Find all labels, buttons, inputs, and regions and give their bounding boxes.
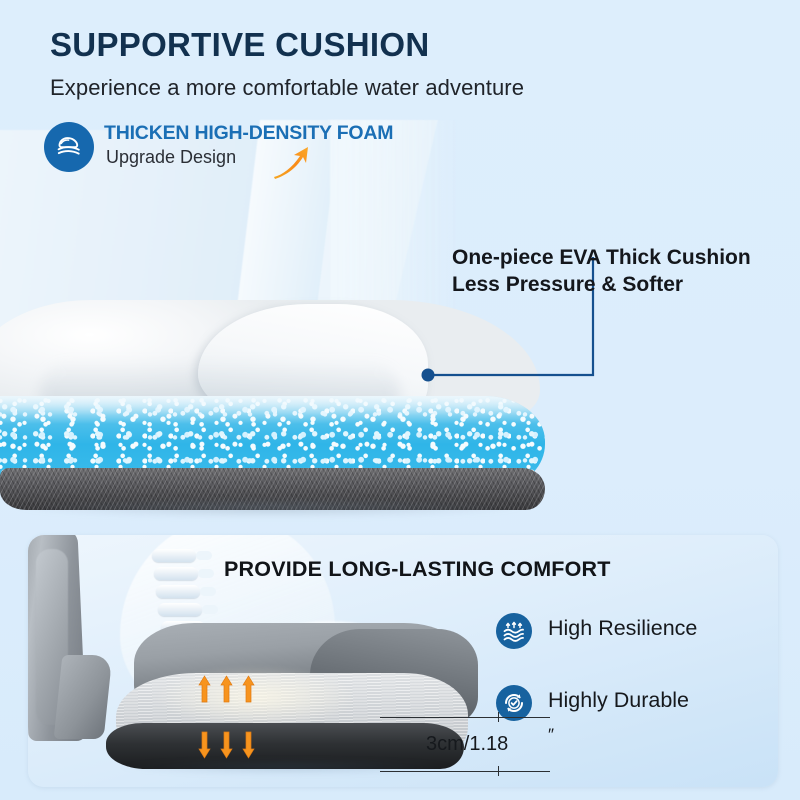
infographic-canvas: SUPPORTIVE CUSHION Experience a more com… — [0, 0, 800, 800]
page-title: SUPPORTIVE CUSHION — [50, 26, 429, 64]
thickness-up-arrow-3 — [242, 675, 255, 703]
dimension-line-top — [380, 717, 550, 718]
thickness-dimension: 3cm/1.18 ″ — [380, 717, 560, 779]
callout-text-block: One-piece EVA Thick Cushion Less Pressur… — [452, 244, 751, 299]
header-block: SUPPORTIVE CUSHION Experience a more com… — [0, 0, 800, 190]
badge-headline: THICKEN HIGH-DENSITY FOAM — [104, 122, 393, 145]
dimension-tick-top — [498, 712, 499, 722]
cushion-foam-icon — [44, 122, 94, 172]
upgrade-badge: THICKEN HIGH-DENSITY FOAM Upgrade Design — [44, 122, 474, 182]
dimension-tick-bottom — [498, 766, 499, 776]
thickness-down-arrow-2 — [220, 731, 233, 759]
chair-backrest-arm — [54, 655, 113, 739]
callout-line-2: Less Pressure & Softer — [452, 271, 751, 298]
feature-label: Highly Durable — [548, 688, 689, 713]
page-subtitle: Experience a more comfortable water adve… — [50, 75, 524, 101]
cushion-ground-shadow — [10, 498, 530, 518]
seat-foam-highlight — [156, 667, 356, 727]
thickness-down-arrow-3 — [242, 731, 255, 759]
highly-durable-refresh-check-icon — [496, 685, 532, 721]
dimension-label: 3cm/1.18 — [426, 733, 508, 756]
dimension-line-bottom — [380, 771, 550, 772]
upgrade-arrow-icon — [272, 144, 314, 180]
thickness-up-arrows-icon — [198, 675, 211, 703]
panel-heading: PROVIDE LONG-LASTING COMFORT — [224, 557, 611, 582]
thickness-down-arrows-icon — [198, 731, 211, 759]
feature-high-resilience: High Resilience — [496, 613, 766, 659]
badge-subline: Upgrade Design — [106, 147, 236, 168]
feature-label: High Resilience — [548, 616, 697, 641]
dimension-inch-mark: ″ — [548, 725, 554, 745]
comfort-panel: PROVIDE LONG-LASTING COMFORT High Resili… — [28, 535, 778, 787]
callout-line-1: One-piece EVA Thick Cushion — [452, 244, 751, 271]
product-photo-top — [0, 150, 800, 530]
thickness-up-arrow-2 — [220, 675, 233, 703]
high-resilience-waves-icon — [496, 613, 532, 649]
